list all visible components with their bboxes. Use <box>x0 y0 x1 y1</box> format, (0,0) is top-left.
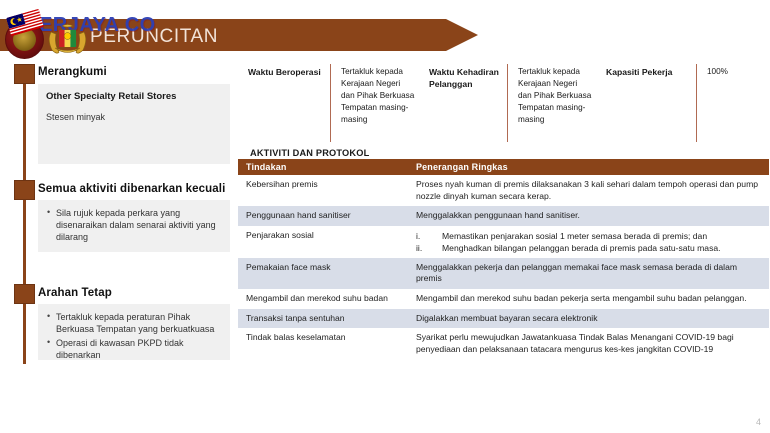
sidebar-heading-semua-aktiviti: Semua aktiviti dibenarkan kecuali <box>38 183 225 195</box>
protocol-table: Tindakan Penerangan Ringkas Kebersihan p… <box>238 159 769 359</box>
sidebar-marker-2 <box>14 180 35 200</box>
sidebar-marker-1 <box>14 64 35 84</box>
numbered-list: i. Memastikan penjarakan sosial 1 meter … <box>416 230 761 254</box>
operating-info-strip: Waktu Beroperasi Tertakluk kepada Keraja… <box>240 64 768 142</box>
cell-penerangan: Menggalakkan pekerja dan pelanggan memak… <box>408 258 769 289</box>
cell-tindakan: Transaksi tanpa sentuhan <box>238 309 408 329</box>
value-waktu-kehadiran-pelanggan: Tertakluk kepada Kerajaan Negeri dan Pih… <box>510 64 598 125</box>
cell-penerangan: Digalakkan membuat bayaran secara elektr… <box>408 309 769 329</box>
sidebar-box-arahan-tetap: Tertakluk kepada peraturan Pihak Berkuas… <box>38 304 230 360</box>
value-waktu-beroperasi: Tertakluk kepada Kerajaan Negeri dan Pih… <box>333 64 421 125</box>
cell-penerangan: i. Memastikan penjarakan sosial 1 meter … <box>408 226 769 258</box>
cell-tindakan: Mengambil dan merekod suhu badan <box>238 289 408 309</box>
sidebar-subheading-merangkumi: Other Specialty Retail Stores <box>46 91 222 103</box>
sidebar-bullet-list-arahan: Tertakluk kepada peraturan Pihak Berkuas… <box>46 311 222 362</box>
list-item: Sila rujuk kepada perkara yang disenarai… <box>46 207 222 243</box>
divider <box>507 64 508 142</box>
sidebar-box-semua-aktiviti: Sila rujuk kepada perkara yang disenarai… <box>38 200 230 252</box>
sidebar-rail <box>23 64 26 364</box>
sidebar-heading-arahan-tetap: Arahan Tetap <box>38 287 112 299</box>
cell-penerangan: Proses nyah kuman di premis dilaksanakan… <box>408 175 769 206</box>
table-row: Penggunaan hand sanitiser Menggalakkan p… <box>238 206 769 226</box>
value-kapasiti-pekerja: 100% <box>699 64 757 78</box>
cell-penerangan: Syarikat perlu mewujudkan Jawatankuasa T… <box>408 328 769 359</box>
sidebar-box-merangkumi: Other Specialty Retail Stores Stesen min… <box>38 84 230 164</box>
table-row: Penjarakan sosial i. Memastikan penjarak… <box>238 226 769 258</box>
column-header-penerangan: Penerangan Ringkas <box>408 159 769 175</box>
protocol-section-title: AKTIVITI DAN PROTOKOL <box>250 148 369 158</box>
table-row: Pemakaian face mask Menggalakkan pekerja… <box>238 258 769 289</box>
list-marker: ii. <box>416 242 442 254</box>
cell-tindakan: Pemakaian face mask <box>238 258 408 289</box>
table-row: Tindak balas keselamatan Syarikat perlu … <box>238 328 769 359</box>
label-waktu-kehadiran-pelanggan: Waktu Kehadiran Pelanggan <box>421 64 505 91</box>
list-item: ii. Menghadkan bilangan pelanggan berada… <box>416 242 761 254</box>
list-marker: i. <box>416 230 442 242</box>
divider <box>330 64 331 142</box>
table-row: Transaksi tanpa sentuhan Digalakkan memb… <box>238 309 769 329</box>
sidebar-marker-3 <box>14 284 35 304</box>
cell-tindakan: Penggunaan hand sanitiser <box>238 206 408 226</box>
slide-canvas: KERJAYA CO KERJAYA CO PERUNCITAN Merangk… <box>0 0 770 433</box>
cell-tindakan: Tindak balas keselamatan <box>238 328 408 359</box>
label-kapasiti-pekerja: Kapasiti Pekerja <box>598 64 694 78</box>
list-text: Menghadkan bilangan pelanggan berada di … <box>442 242 721 254</box>
table-header-row: Tindakan Penerangan Ringkas <box>238 159 769 175</box>
cell-penerangan: Menggalakkan penggunaan hand sanitiser. <box>408 206 769 226</box>
list-item: i. Memastikan penjarakan sosial 1 meter … <box>416 230 761 242</box>
malaysia-coat-of-arms-icon <box>45 24 90 57</box>
sidebar-text-merangkumi: Stesen minyak <box>46 112 222 124</box>
list-item: Operasi di kawasan PKPD tidak dibenarkan <box>46 337 222 361</box>
cell-penerangan: Mengambil dan merekod suhu badan pekerja… <box>408 289 769 309</box>
divider <box>696 64 697 142</box>
cell-tindakan: Kebersihan premis <box>238 175 408 206</box>
list-text: Memastikan penjarakan sosial 1 meter sem… <box>442 230 707 242</box>
table-row: Mengambil dan merekod suhu badan Mengamb… <box>238 289 769 309</box>
cell-tindakan: Penjarakan sosial <box>238 226 408 258</box>
sidebar-bullet-list-semua: Sila rujuk kepada perkara yang disenarai… <box>46 207 222 243</box>
column-header-tindakan: Tindakan <box>238 159 408 175</box>
page-number: 4 <box>756 417 761 427</box>
sidebar-heading-merangkumi: Merangkumi <box>38 66 107 78</box>
table-row: Kebersihan premis Proses nyah kuman di p… <box>238 175 769 206</box>
label-waktu-beroperasi: Waktu Beroperasi <box>240 64 328 78</box>
list-item: Tertakluk kepada peraturan Pihak Berkuas… <box>46 311 222 335</box>
